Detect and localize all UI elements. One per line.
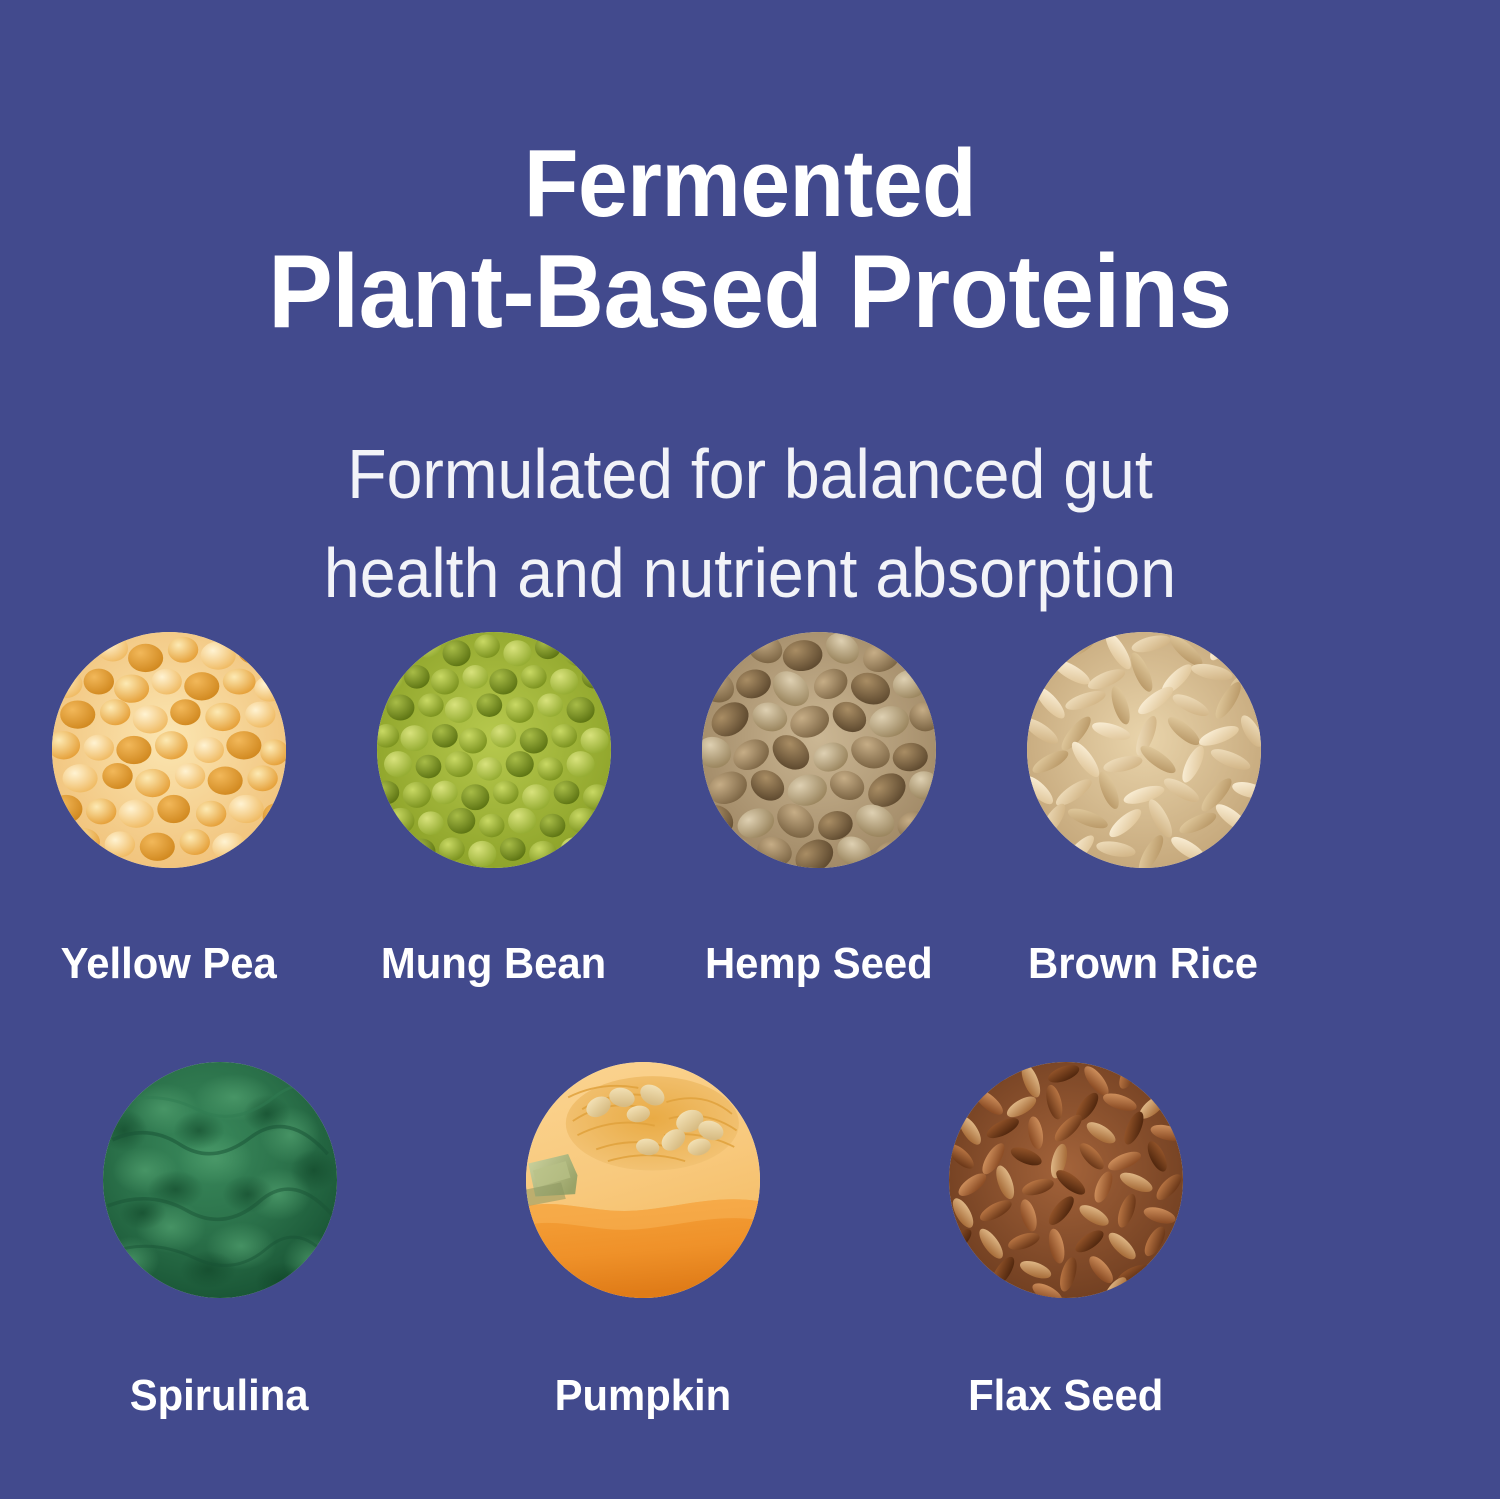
ingredient-label: Brown Rice: [1029, 942, 1259, 986]
ingredient-item-yellow-pea: Yellow Pea: [6, 632, 331, 986]
page-title: Fermented Plant-Based Proteins: [53, 132, 1448, 348]
ingredient-label: Hemp Seed: [705, 942, 933, 986]
ingredient-item-flax-seed: Flax Seed: [854, 1062, 1277, 1418]
ingredient-item-brown-rice: Brown Rice: [981, 632, 1306, 986]
ingredient-label: Yellow Pea: [60, 942, 276, 986]
flax-seed-swatch: [949, 1062, 1183, 1298]
hemp-seed-swatch: [702, 632, 936, 868]
ingredient-item-hemp-seed: Hemp Seed: [656, 632, 981, 986]
yellow-pea-swatch: [52, 632, 286, 868]
ingredient-item-mung-bean: Mung Bean: [331, 632, 656, 986]
page-title-line-1: Fermented: [53, 132, 1448, 236]
ingredient-item-pumpkin: Pumpkin: [431, 1062, 854, 1418]
ingredient-label: Flax Seed: [968, 1374, 1163, 1418]
product-infographic: Fermented Plant-Based Proteins Formulate…: [0, 0, 1500, 1499]
page-subtitle-line-2: health and nutrient absorption: [60, 524, 1440, 623]
ingredient-item-spirulina: Spirulina: [8, 1062, 431, 1418]
brown-rice-swatch: [1027, 632, 1261, 868]
ingredient-row-2: Spirulina: [0, 1062, 1500, 1418]
ingredient-label: Spirulina: [130, 1374, 309, 1418]
spirulina-swatch: [103, 1062, 337, 1298]
ingredient-label: Pumpkin: [554, 1374, 731, 1418]
pumpkin-swatch: [526, 1062, 760, 1298]
ingredient-row-1: Yellow Pea: [0, 632, 1500, 986]
ingredient-label: Mung Bean: [381, 942, 606, 986]
page-subtitle: Formulated for balanced gut health and n…: [60, 425, 1440, 624]
page-title-line-2: Plant-Based Proteins: [53, 236, 1448, 348]
mung-bean-swatch: [377, 632, 611, 868]
page-subtitle-line-1: Formulated for balanced gut: [60, 425, 1440, 524]
